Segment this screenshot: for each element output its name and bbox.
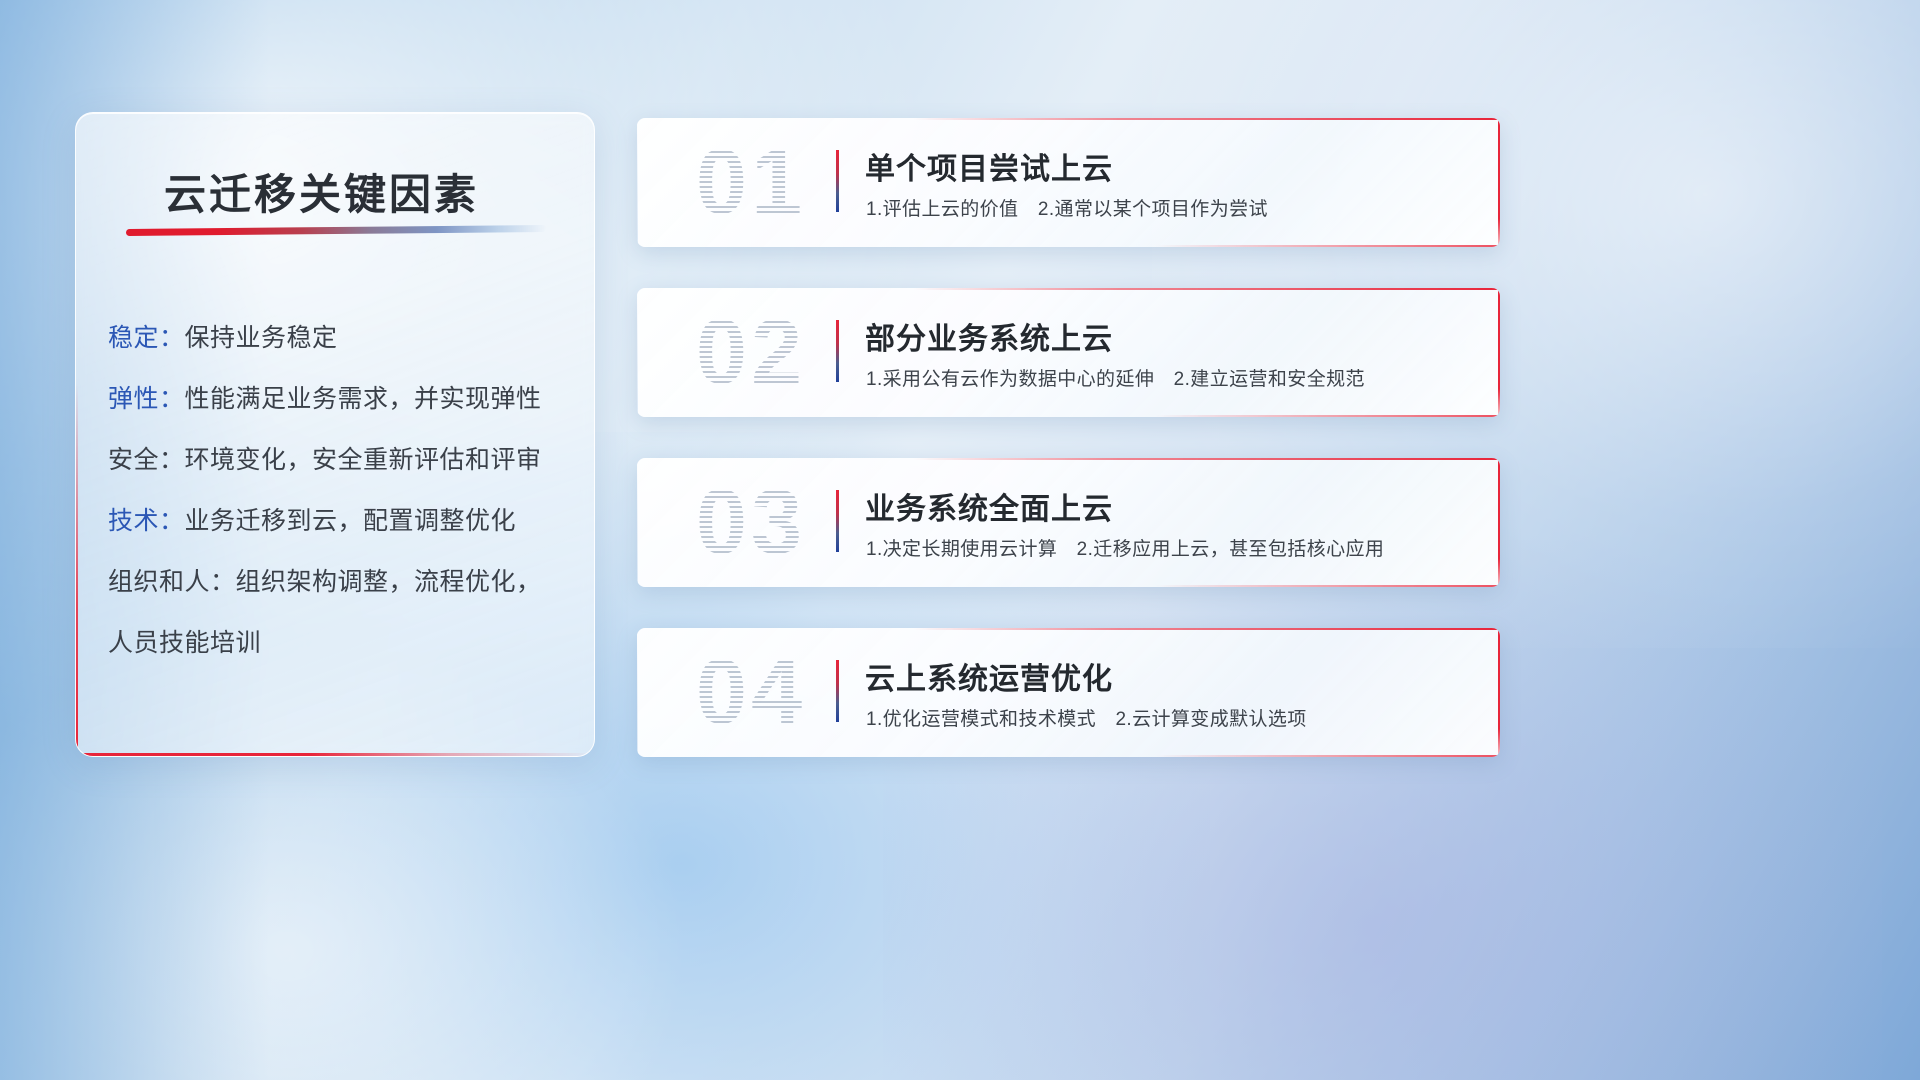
step-divider-bar	[836, 320, 839, 382]
step-number: 01	[661, 126, 841, 238]
factor-item: 稳定：保持业务稳定	[108, 308, 570, 369]
step-card[interactable]: 01单个项目尝试上云1.评估上云的价值 2.通常以某个项目作为尝试	[637, 118, 1500, 247]
step-divider-bar	[836, 490, 839, 552]
slide-stage: 云迁移关键因素 稳定：保持业务稳定弹性：性能满足业务需求，并实现弹性安全：环境变…	[0, 0, 1920, 1080]
step-number: 03	[661, 466, 841, 578]
factor-label: 弹性：	[108, 385, 185, 413]
card-edge-right	[1498, 288, 1500, 417]
step-title: 部分业务系统上云	[865, 314, 1113, 358]
step-card[interactable]: 03业务系统全面上云1.决定长期使用云计算 2.迁移应用上云，甚至包括核心应用	[637, 458, 1500, 587]
factor-text: 性能满足业务需求，并实现弹性	[185, 385, 542, 413]
card-edge-top	[913, 118, 1500, 120]
card-edge-top	[913, 288, 1500, 290]
step-divider-bar	[836, 150, 839, 212]
factor-text: 业务迁移到云，配置调整优化	[185, 507, 517, 535]
card-edge-right	[1498, 628, 1500, 757]
factor-label: 组织和人：	[108, 568, 236, 596]
factor-label: 稳定：	[108, 324, 185, 352]
factor-list: 稳定：保持业务稳定弹性：性能满足业务需求，并实现弹性安全：环境变化，安全重新评估…	[108, 308, 570, 674]
factor-label: 技术：	[108, 507, 185, 535]
step-title: 业务系统全面上云	[865, 484, 1113, 528]
card-edge-left	[637, 118, 638, 247]
step-subtitle: 1.评估上云的价值 2.通常以某个项目作为尝试	[866, 194, 1268, 221]
card-edge-bottom	[1155, 415, 1500, 417]
factor-text: 环境变化，安全重新评估和评审	[185, 446, 542, 474]
factor-label: 安全：	[108, 446, 185, 474]
factor-item: 技术：业务迁移到云，配置调整优化	[108, 491, 570, 552]
factor-text: 保持业务稳定	[185, 324, 338, 352]
page-title: 云迁移关键因素	[164, 161, 479, 222]
factor-text: 组织架构调整，流程优化，	[236, 568, 542, 596]
card-edge-top	[913, 628, 1500, 630]
card-edge-bottom	[1155, 755, 1500, 757]
step-subtitle: 1.优化运营模式和技术模式 2.云计算变成默认选项	[866, 704, 1307, 731]
step-card[interactable]: 04云上系统运营优化1.优化运营模式和技术模式 2.云计算变成默认选项	[637, 628, 1500, 757]
step-card[interactable]: 02部分业务系统上云1.采用公有云作为数据中心的延伸 2.建立运营和安全规范	[637, 288, 1500, 417]
card-edge-left	[637, 458, 638, 587]
step-divider-bar	[836, 660, 839, 722]
card-edge-left	[637, 288, 638, 417]
card-edge-top	[913, 458, 1500, 460]
step-title: 云上系统运营优化	[865, 654, 1113, 698]
card-edge-right	[1498, 458, 1500, 587]
factor-item: 人员技能培训	[108, 613, 570, 674]
key-factors-card: 云迁移关键因素 稳定：保持业务稳定弹性：性能满足业务需求，并实现弹性安全：环境变…	[75, 112, 595, 757]
card-edge-bottom	[1155, 585, 1500, 587]
card-edge-right	[1498, 118, 1500, 247]
step-number: 04	[661, 636, 841, 748]
title-underline-gradient	[126, 225, 546, 236]
factor-item: 弹性：性能满足业务需求，并实现弹性	[108, 369, 570, 430]
step-subtitle: 1.决定长期使用云计算 2.迁移应用上云，甚至包括核心应用	[866, 534, 1384, 561]
factor-item: 组织和人：组织架构调整，流程优化，	[108, 552, 570, 613]
step-subtitle: 1.采用公有云作为数据中心的延伸 2.建立运营和安全规范	[866, 364, 1365, 391]
factor-item: 安全：环境变化，安全重新评估和评审	[108, 430, 570, 491]
step-title: 单个项目尝试上云	[865, 144, 1113, 188]
card-edge-left	[637, 628, 638, 757]
card-edge-bottom	[1155, 245, 1500, 247]
step-number: 02	[661, 296, 841, 408]
factor-text: 人员技能培训	[108, 629, 261, 657]
